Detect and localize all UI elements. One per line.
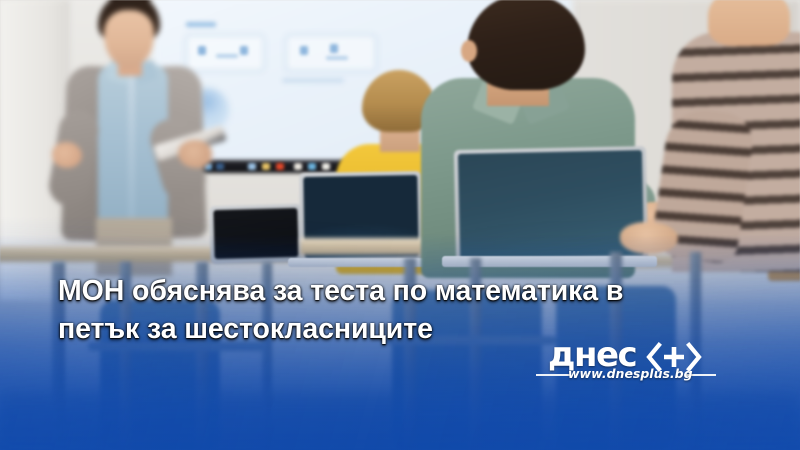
news-hero-card: МОН обяснява за теста по математика в пе… xyxy=(0,0,800,450)
laptop-far-left xyxy=(209,204,302,264)
logo-rule-left xyxy=(536,374,570,376)
logo-url[interactable]: www.dnesplus.bg xyxy=(568,366,688,381)
slide-icon-3 xyxy=(300,46,308,55)
student-striped-sweater xyxy=(672,0,800,290)
slide-card-right xyxy=(285,34,377,72)
laptop-green-student xyxy=(454,146,648,264)
slide-icon-4 xyxy=(330,44,338,53)
slide-bar-2 xyxy=(326,56,348,60)
site-logo[interactable]: днес www.dnesplus.bg xyxy=(540,339,716,389)
